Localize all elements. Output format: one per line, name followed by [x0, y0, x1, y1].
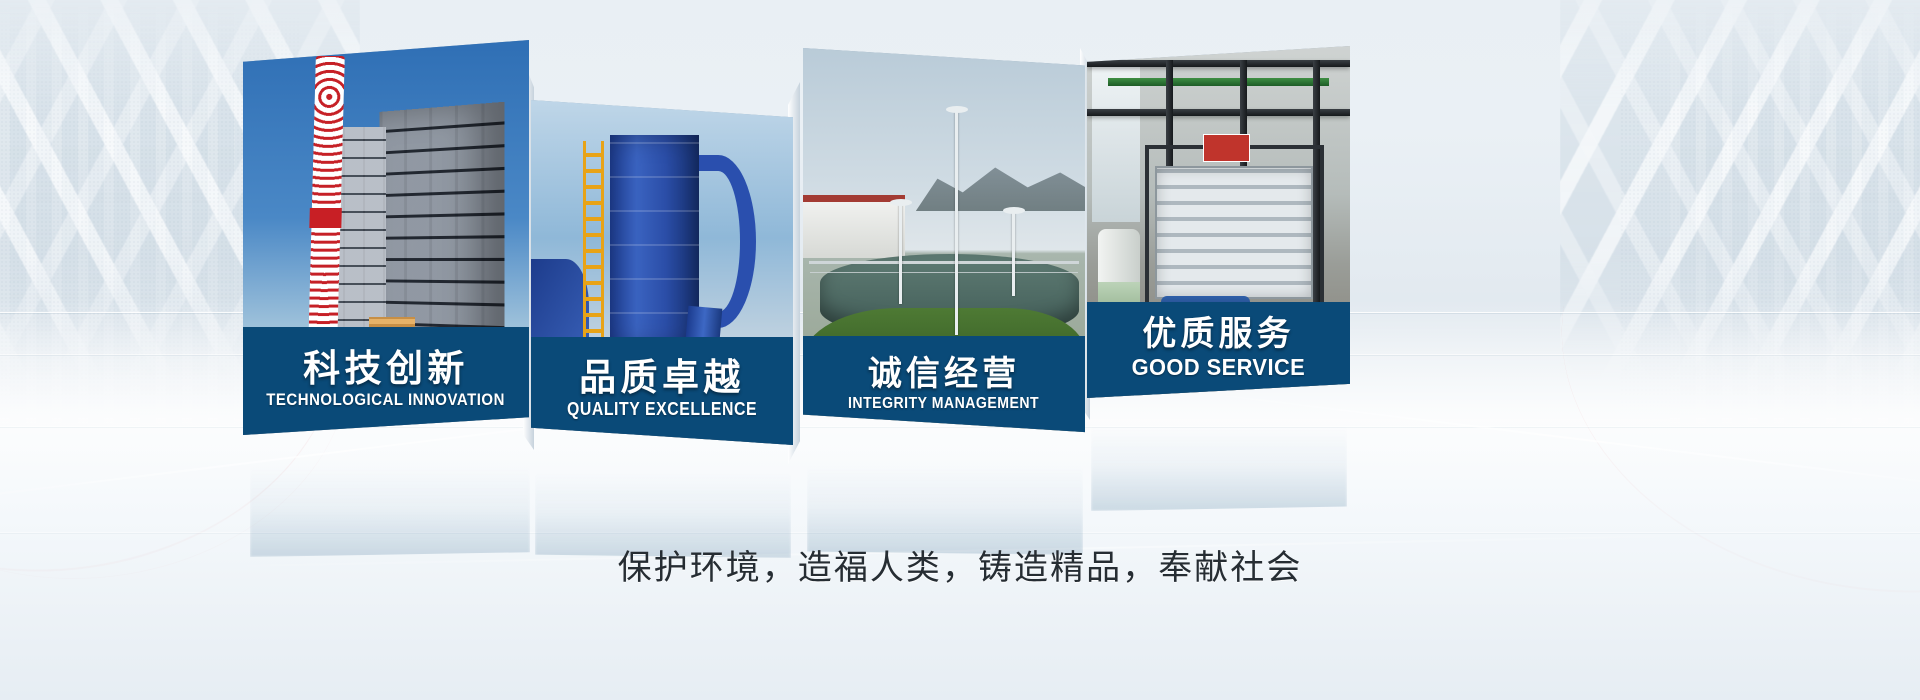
company-tagline: 保护环境，造福人类，铸造精品，奉献社会	[0, 540, 1920, 589]
panel-1-title-cn: 科技创新	[303, 349, 469, 388]
panel-2-title-cn: 品质卓越	[579, 358, 745, 397]
panel-2-title-en: QUALITY EXCELLENCE	[567, 400, 757, 420]
panel-3-caption-band: 诚信经营 INTEGRITY MANAGEMENT	[803, 336, 1085, 436]
panel-1-title-en: TECHNOLOGICAL INNOVATION	[267, 391, 506, 410]
street-lamp-small-icon	[899, 203, 902, 304]
street-lamp-far-icon	[1012, 211, 1015, 296]
feature-panel-group: 科技创新 TECHNOLOGICAL INNOVATION 品质卓越	[0, 0, 1920, 700]
panel-3-title-cn: 诚信经营	[868, 356, 1020, 392]
feature-panel-quality-excellence[interactable]: 品质卓越 QUALITY EXCELLENCE	[531, 100, 793, 445]
banner-stage: 科技创新 TECHNOLOGICAL INNOVATION 品质卓越	[0, 0, 1920, 700]
panel-2-caption-band: 品质卓越 QUALITY EXCELLENCE	[531, 337, 793, 445]
feature-panel-integrity-management[interactable]: 诚信经营 INTEGRITY MANAGEMENT	[803, 48, 1085, 436]
panel-1-caption-band: 科技创新 TECHNOLOGICAL INNOVATION	[243, 327, 529, 435]
panel-3-title-en: INTEGRITY MANAGEMENT	[848, 395, 1039, 413]
feature-panel-good-service[interactable]: 优质服务 GOOD SERVICE	[1087, 46, 1350, 398]
panel-4-title-cn: 优质服务	[1142, 316, 1294, 352]
feature-panel-technological-innovation[interactable]: 科技创新 TECHNOLOGICAL INNOVATION	[243, 40, 529, 435]
panel-4-title-en: GOOD SERVICE	[1132, 355, 1306, 380]
street-lamp-icon	[955, 110, 958, 335]
warning-sign-icon	[1203, 134, 1250, 162]
panel-4-caption-band: 优质服务 GOOD SERVICE	[1087, 302, 1350, 398]
